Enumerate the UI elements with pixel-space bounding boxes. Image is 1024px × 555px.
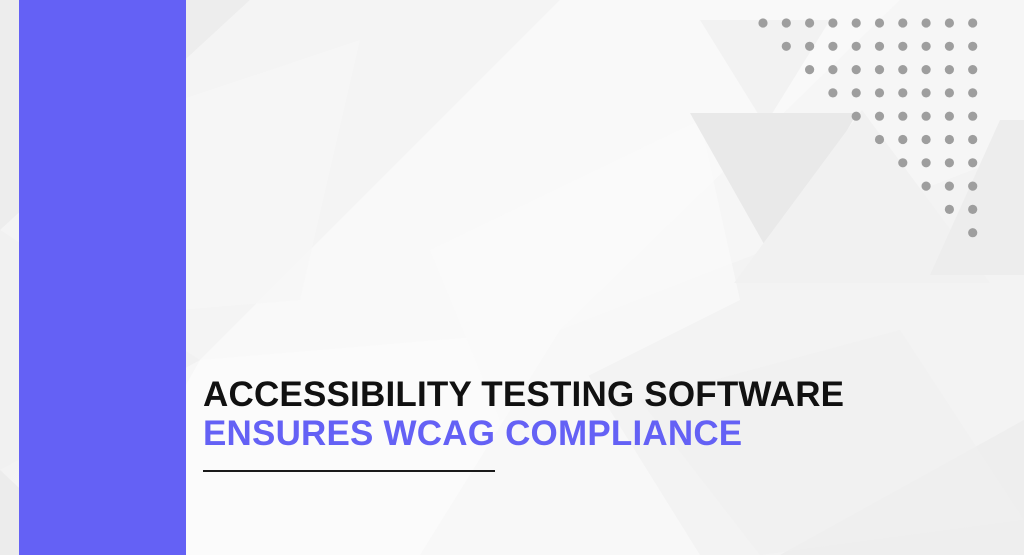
headline-underline-rule bbox=[203, 470, 495, 472]
banner-canvas: ACCESSIBILITY TESTING SOFTWARE ENSURES W… bbox=[0, 0, 1024, 555]
headline-secondary: ENSURES WCAG COMPLIANCE bbox=[203, 414, 903, 454]
headline-block: ACCESSIBILITY TESTING SOFTWARE ENSURES W… bbox=[203, 376, 903, 472]
headline-primary: ACCESSIBILITY TESTING SOFTWARE bbox=[203, 376, 903, 414]
left-accent-bar bbox=[19, 0, 186, 555]
